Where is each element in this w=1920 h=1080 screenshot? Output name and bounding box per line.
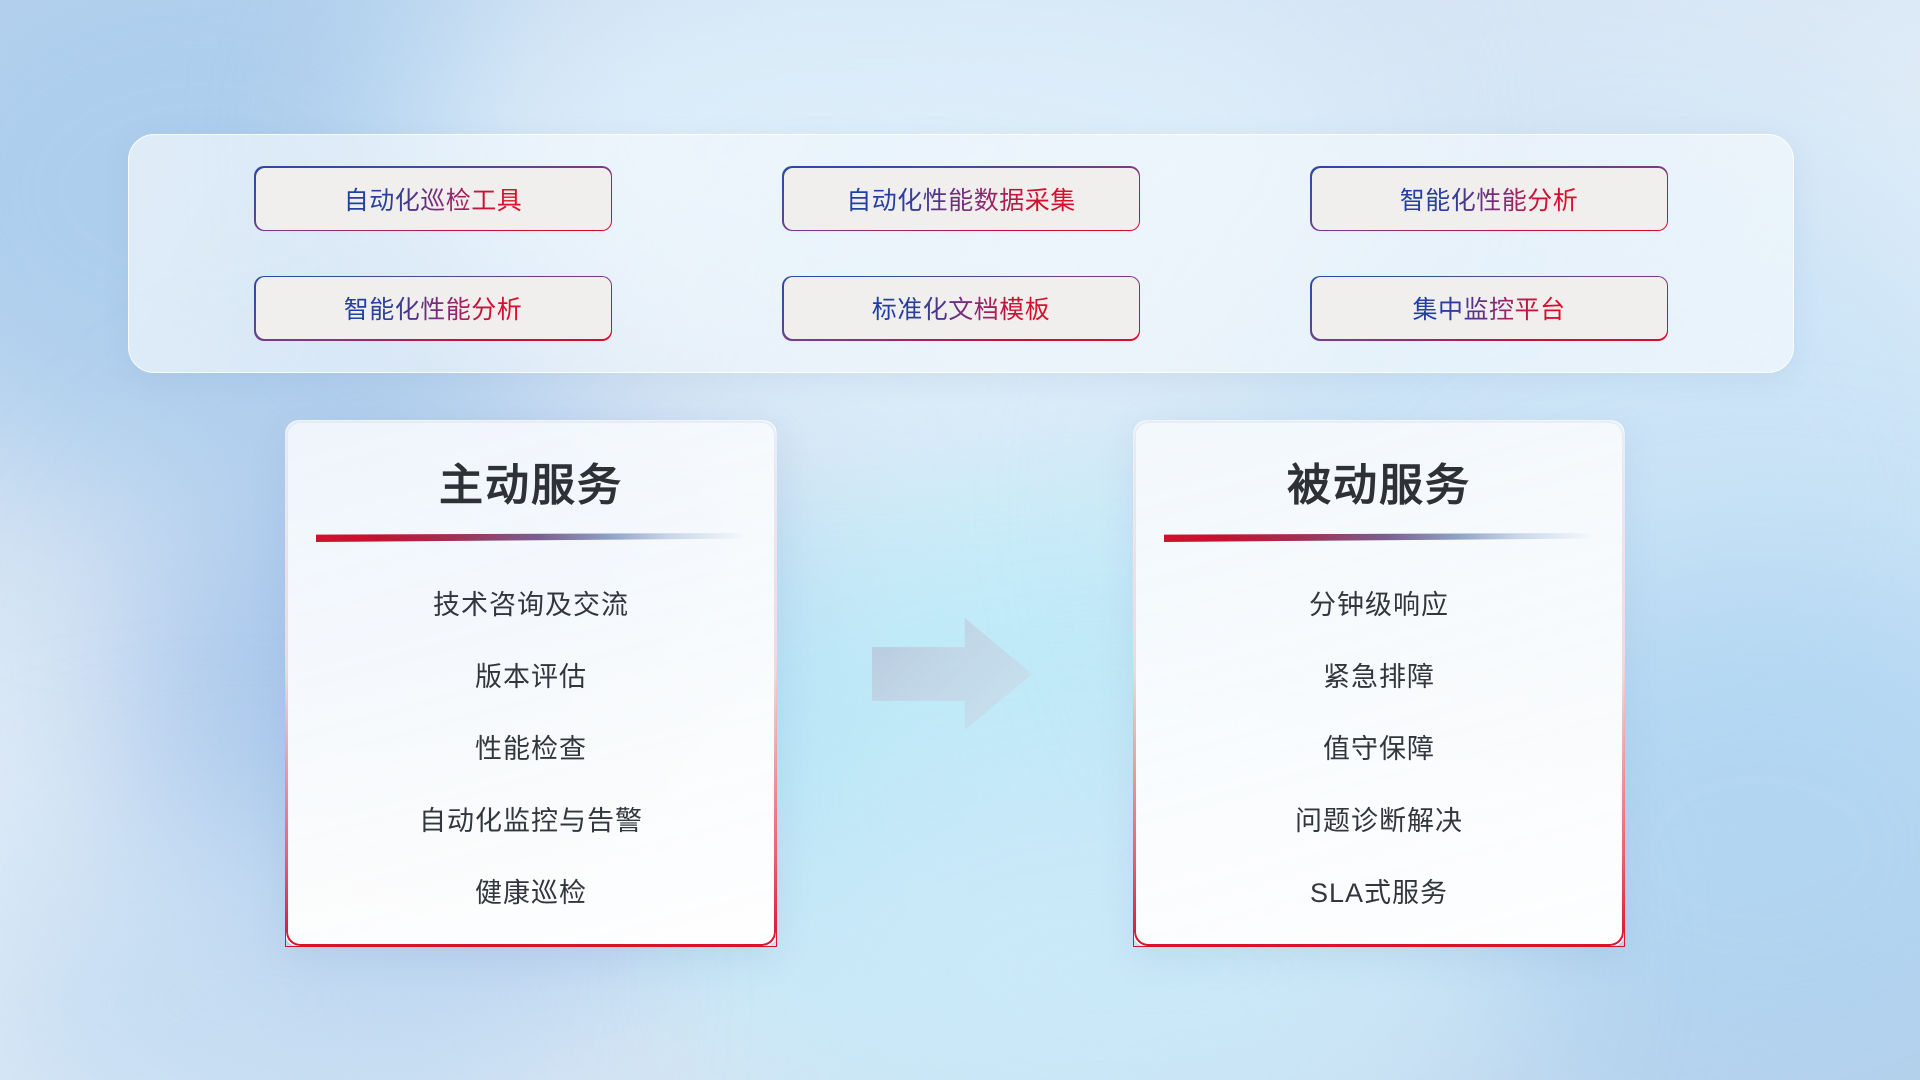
card-title: 被动服务 xyxy=(1287,449,1471,513)
capability-tag-label: 自动化巡检工具 xyxy=(344,181,523,217)
capability-tag-label: 标准化文档模板 xyxy=(872,290,1051,326)
capability-tag-panel: 自动化巡检工具 自动化性能数据采集 智能化性能分析 智能化性能分析 标准化文档模… xyxy=(128,134,1794,373)
card-divider xyxy=(316,533,746,543)
list-item[interactable]: 分钟级响应 xyxy=(1309,569,1449,641)
capability-tag-2[interactable]: 自动化性能数据采集 xyxy=(784,168,1139,230)
list-item[interactable]: 健康巡检 xyxy=(475,857,587,929)
list-item[interactable]: 值守保障 xyxy=(1323,713,1435,785)
capability-tag-label: 智能化性能分析 xyxy=(344,290,523,326)
list-item[interactable]: 性能检查 xyxy=(475,713,587,785)
card-divider xyxy=(1164,533,1594,543)
capability-tag-6[interactable]: 集中监控平台 xyxy=(1312,277,1667,339)
list-item[interactable]: 紧急排障 xyxy=(1323,641,1435,713)
capability-tag-label: 集中监控平台 xyxy=(1412,290,1565,326)
capability-tag-3[interactable]: 智能化性能分析 xyxy=(1312,168,1667,230)
card-title: 主动服务 xyxy=(439,449,623,513)
arrow-right-icon xyxy=(872,618,1032,730)
slide-canvas: 自动化巡检工具 自动化性能数据采集 智能化性能分析 智能化性能分析 标准化文档模… xyxy=(0,0,1920,1080)
list-item[interactable]: 版本评估 xyxy=(475,641,587,713)
capability-tag-label: 自动化性能数据采集 xyxy=(846,181,1076,217)
capability-tag-label: 智能化性能分析 xyxy=(1400,181,1579,217)
list-item[interactable]: 问题诊断解决 xyxy=(1295,785,1463,857)
service-card-active[interactable]: 主动服务 技术咨询及交流 版本评估 性能检查 自动化监控与告警 健康巡检 xyxy=(285,420,777,947)
service-item-list: 技术咨询及交流 版本评估 性能检查 自动化监控与告警 健康巡检 xyxy=(286,569,776,929)
capability-tag-5[interactable]: 标准化文档模板 xyxy=(784,277,1139,339)
list-item[interactable]: 自动化监控与告警 xyxy=(419,785,643,857)
service-item-list: 分钟级响应 紧急排障 值守保障 问题诊断解决 SLA式服务 xyxy=(1134,569,1624,929)
list-item[interactable]: 技术咨询及交流 xyxy=(433,569,629,641)
capability-tag-4[interactable]: 智能化性能分析 xyxy=(256,277,611,339)
capability-tag-1[interactable]: 自动化巡检工具 xyxy=(256,168,611,230)
list-item[interactable]: SLA式服务 xyxy=(1310,857,1448,929)
service-card-passive[interactable]: 被动服务 分钟级响应 紧急排障 值守保障 问题诊断解决 SLA式服务 xyxy=(1133,420,1625,947)
